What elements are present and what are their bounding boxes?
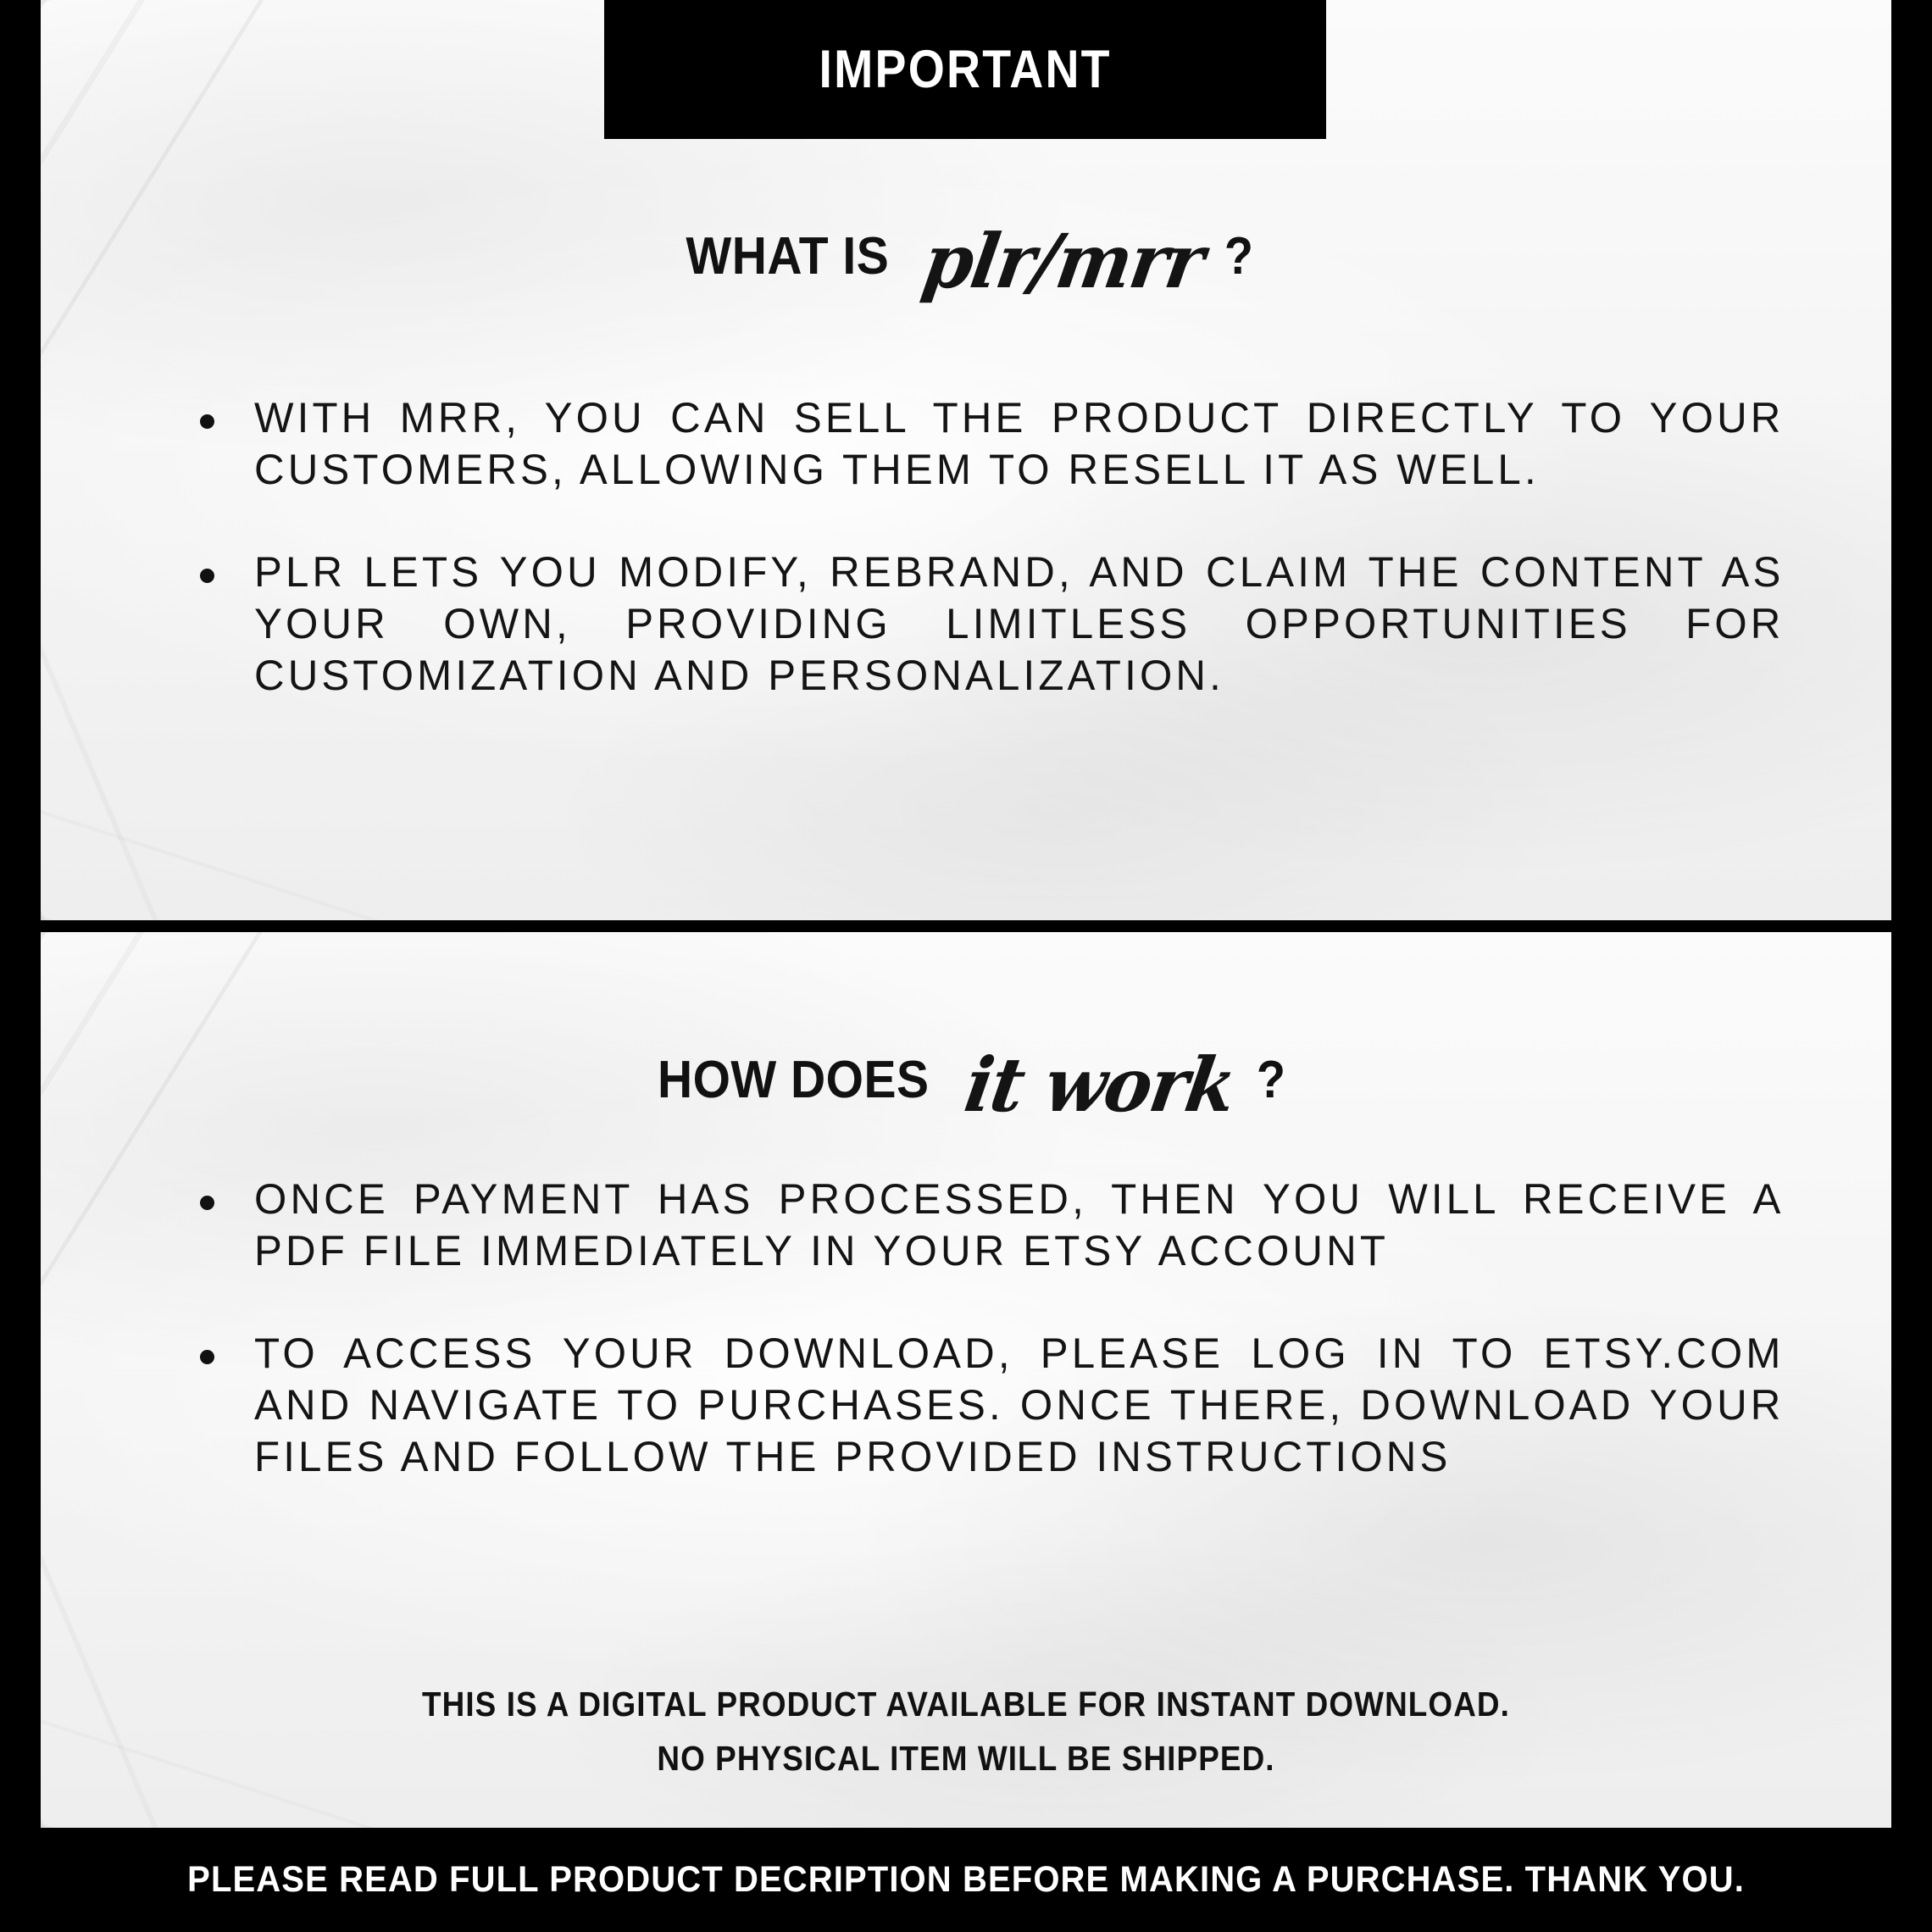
bullet-list-how-does-it-work: ONCE PAYMENT HAS PROCESSED, THEN YOU WIL… bbox=[185, 1174, 1807, 1483]
bullet-list-what-is-plr-mrr: WITH MRR, YOU CAN SELL THE PRODUCT DIREC… bbox=[185, 392, 1807, 702]
heading-how-does-bold-text: HOW DOES bbox=[658, 1050, 930, 1110]
important-badge: IMPORTANT bbox=[604, 0, 1326, 139]
notice-line-2: NO PHYSICAL ITEM WILL BE SHIPPED. bbox=[133, 1732, 1799, 1786]
footer-text: PLEASE READ FULL PRODUCT DECRIPTION BEFO… bbox=[187, 1859, 1745, 1901]
list-item-text: PLR LETS YOU MODIFY, REBRAND, AND CLAIM … bbox=[254, 547, 1785, 702]
list-item: ONCE PAYMENT HAS PROCESSED, THEN YOU WIL… bbox=[185, 1174, 1807, 1277]
heading-what-is-question-mark: ? bbox=[1224, 226, 1253, 286]
heading-how-does-question-mark: ? bbox=[1256, 1050, 1285, 1110]
list-item-text: TO ACCESS YOUR DOWNLOAD, PLEASE LOG IN T… bbox=[254, 1328, 1785, 1483]
bullet-dot-icon bbox=[200, 414, 214, 429]
heading-what-is-script-text: plr/mrr bbox=[917, 217, 1209, 305]
list-item: PLR LETS YOU MODIFY, REBRAND, AND CLAIM … bbox=[185, 547, 1807, 702]
list-item: TO ACCESS YOUR DOWNLOAD, PLEASE LOG IN T… bbox=[185, 1328, 1807, 1483]
footer-bar: PLEASE READ FULL PRODUCT DECRIPTION BEFO… bbox=[0, 1828, 1932, 1932]
heading-what-is-plr-mrr: WHAT IS plr/mrr ? bbox=[41, 203, 1891, 291]
list-item-text: ONCE PAYMENT HAS PROCESSED, THEN YOU WIL… bbox=[254, 1174, 1785, 1277]
digital-product-notice: THIS IS A DIGITAL PRODUCT AVAILABLE FOR … bbox=[41, 1678, 1891, 1785]
bullet-dot-icon bbox=[200, 1196, 214, 1210]
heading-how-does-it-work: HOW DOES it work ? bbox=[41, 1027, 1891, 1115]
list-item-text: WITH MRR, YOU CAN SELL THE PRODUCT DIREC… bbox=[254, 392, 1785, 496]
heading-what-is-bold-text: WHAT IS bbox=[686, 226, 890, 286]
heading-how-does-script-text: it work bbox=[959, 1041, 1241, 1129]
poster-canvas: WHAT IS plr/mrr ? WITH MRR, YOU CAN SELL… bbox=[0, 0, 1932, 1932]
section-panel-how-does-it-work: HOW DOES it work ? ONCE PAYMENT HAS PROC… bbox=[41, 932, 1891, 1828]
list-item: WITH MRR, YOU CAN SELL THE PRODUCT DIREC… bbox=[185, 392, 1807, 496]
bullet-dot-icon bbox=[200, 569, 214, 583]
important-badge-label: IMPORTANT bbox=[819, 39, 1111, 100]
bullet-dot-icon bbox=[200, 1350, 214, 1364]
notice-line-1: THIS IS A DIGITAL PRODUCT AVAILABLE FOR … bbox=[133, 1678, 1799, 1732]
